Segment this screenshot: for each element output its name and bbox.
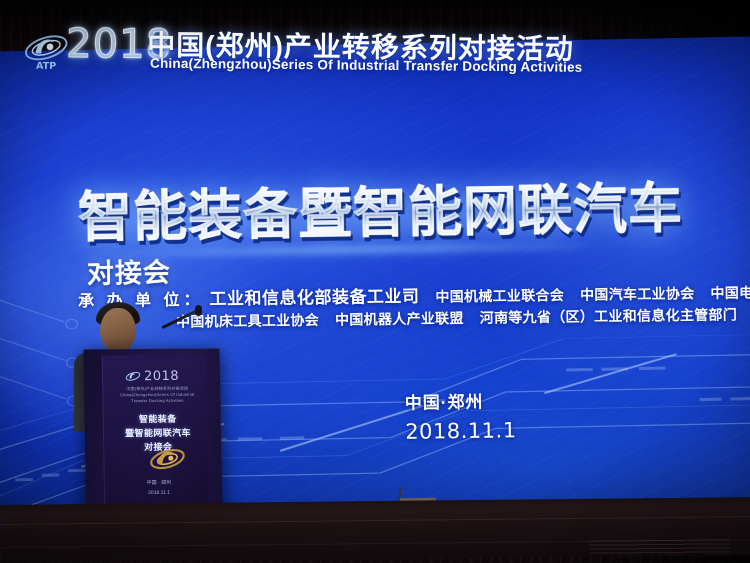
golden-orbit-emblem-icon <box>146 443 189 477</box>
venue-place: 中国·郑州 <box>405 387 517 414</box>
organizer-item: 河南等九省（区）工业和信息化主管部门 <box>480 306 738 325</box>
orbit-swirl-logo-icon <box>125 369 141 384</box>
organizer-item: 中国电子企业协会 <box>710 284 750 301</box>
microphone-head-icon <box>195 305 202 316</box>
podium-front-panel: 2018 中国(郑州)产业转移系列对接活动 China(Zhengzhou)Se… <box>102 355 209 512</box>
podium-subtitle-en: China(Zhengzhou)Series Of Industrial Tra… <box>117 392 197 405</box>
podium-logo: 2018 <box>125 367 189 385</box>
podium-footer: 中国 · 郑州 2018.11.1 <box>113 479 205 499</box>
podium-footer-date: 2018.11.1 <box>113 488 205 498</box>
venue-block: 中国·郑州 2018.11.1 <box>405 387 517 444</box>
stage-vent-grille <box>590 539 730 554</box>
organizer-primary: 工业和信息化部装备工业司 <box>209 287 419 309</box>
podium-year: 2018 <box>144 368 179 383</box>
svg-text:ATP: ATP <box>36 61 56 72</box>
orbit-swirl-logo-icon: ATP <box>22 28 70 72</box>
podium-subtitle: 中国(郑州)产业转移系列对接活动 China(Zhengzhou)Series … <box>117 386 197 405</box>
header-title-en: China(Zhengzhou)Series Of Industrial Tra… <box>150 56 582 75</box>
main-title-block: 智能装备暨智能网联汽车对接会 <box>77 163 718 263</box>
backdrop-header: ATP 2018 中国(郑州)产业转移系列对接活动 China(Zhengzho… <box>21 14 750 131</box>
conference-stage-photo: ATP 2018 中国(郑州)产业转移系列对接活动 China(Zhengzho… <box>0 0 750 563</box>
organizer-item: 中国机械工业联合会 <box>435 287 564 305</box>
podium-title-line-1: 智能装备 <box>112 413 204 428</box>
organizer-item: 中国机器人产业联盟 <box>335 310 464 328</box>
podium: 2018 中国(郑州)产业转移系列对接活动 China(Zhengzhou)Se… <box>84 349 223 518</box>
venue-date: 2018.11.1 <box>405 418 517 444</box>
podium-title-line-2: 暨智能网联汽车 <box>112 427 204 442</box>
organizer-item: 中国汽车工业协会 <box>580 285 695 302</box>
